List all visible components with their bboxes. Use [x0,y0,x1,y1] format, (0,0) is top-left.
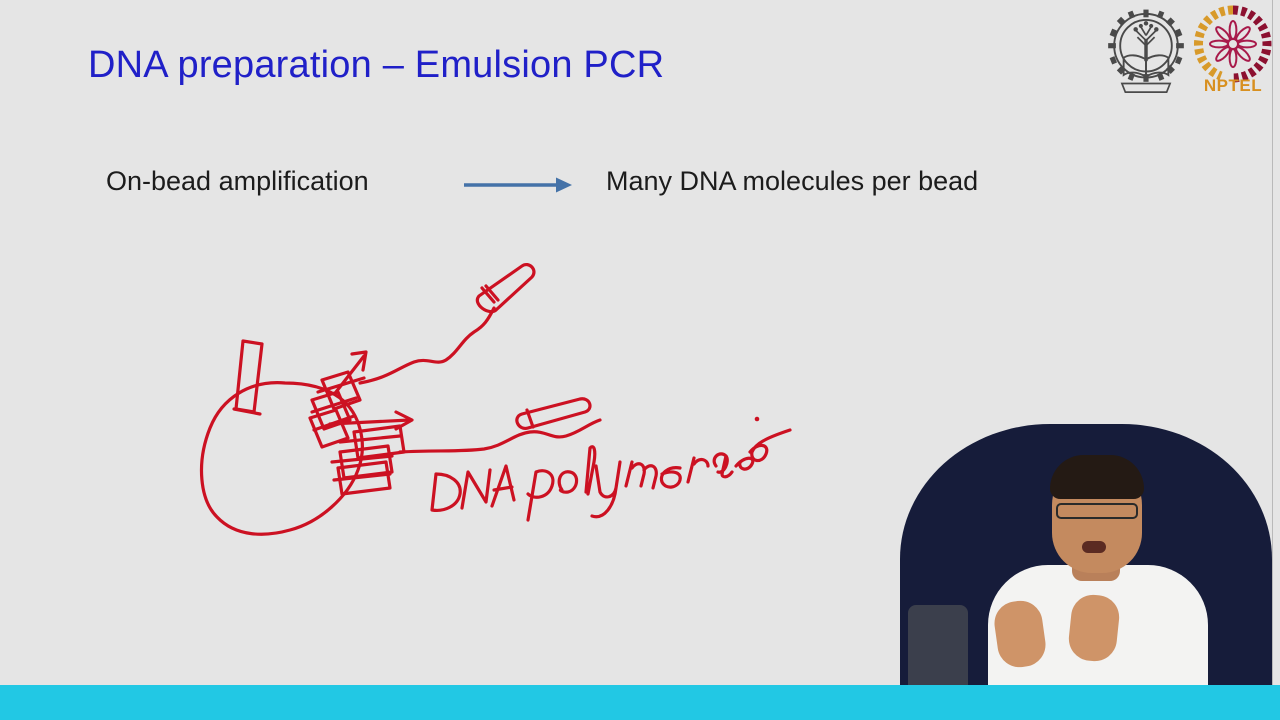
bottom-accent-bar [0,685,1280,720]
bead-circle [202,383,363,535]
arrow-upper [336,356,364,392]
content-row: On-bead amplification Many DNA molecules… [0,164,1100,210]
page-title: DNA preparation – Emulsion PCR [88,44,664,87]
arrow-lower [330,420,410,424]
chair-back [908,605,968,685]
polymerase-block-upper [477,265,534,312]
dna-strand-upper [360,308,494,383]
right-phrase-text: Many DNA molecules per bead [606,166,978,197]
iit-kharagpur-logo [1103,4,1189,96]
left-phrase-text: On-bead amplification [106,166,369,197]
presenter-mouth [1082,541,1106,553]
ink-dot [755,417,760,422]
polymerase-block-lower [517,399,590,429]
dna-strand-lower [400,420,600,452]
right-edge-divider [1272,0,1273,686]
nptel-wordmark: NPTEL [1194,76,1272,96]
presenter-hair [1050,455,1144,499]
presenter-video[interactable] [900,424,1272,685]
primer-top [236,341,262,412]
handwritten-label [432,430,790,520]
glasses-icon [1056,503,1138,519]
primer-cluster-lower [354,426,404,458]
lecture-slide: DNA preparation – Emulsion PCR [0,0,1280,720]
right-arrow-icon [462,172,574,198]
primer-cluster-upper [322,372,360,409]
